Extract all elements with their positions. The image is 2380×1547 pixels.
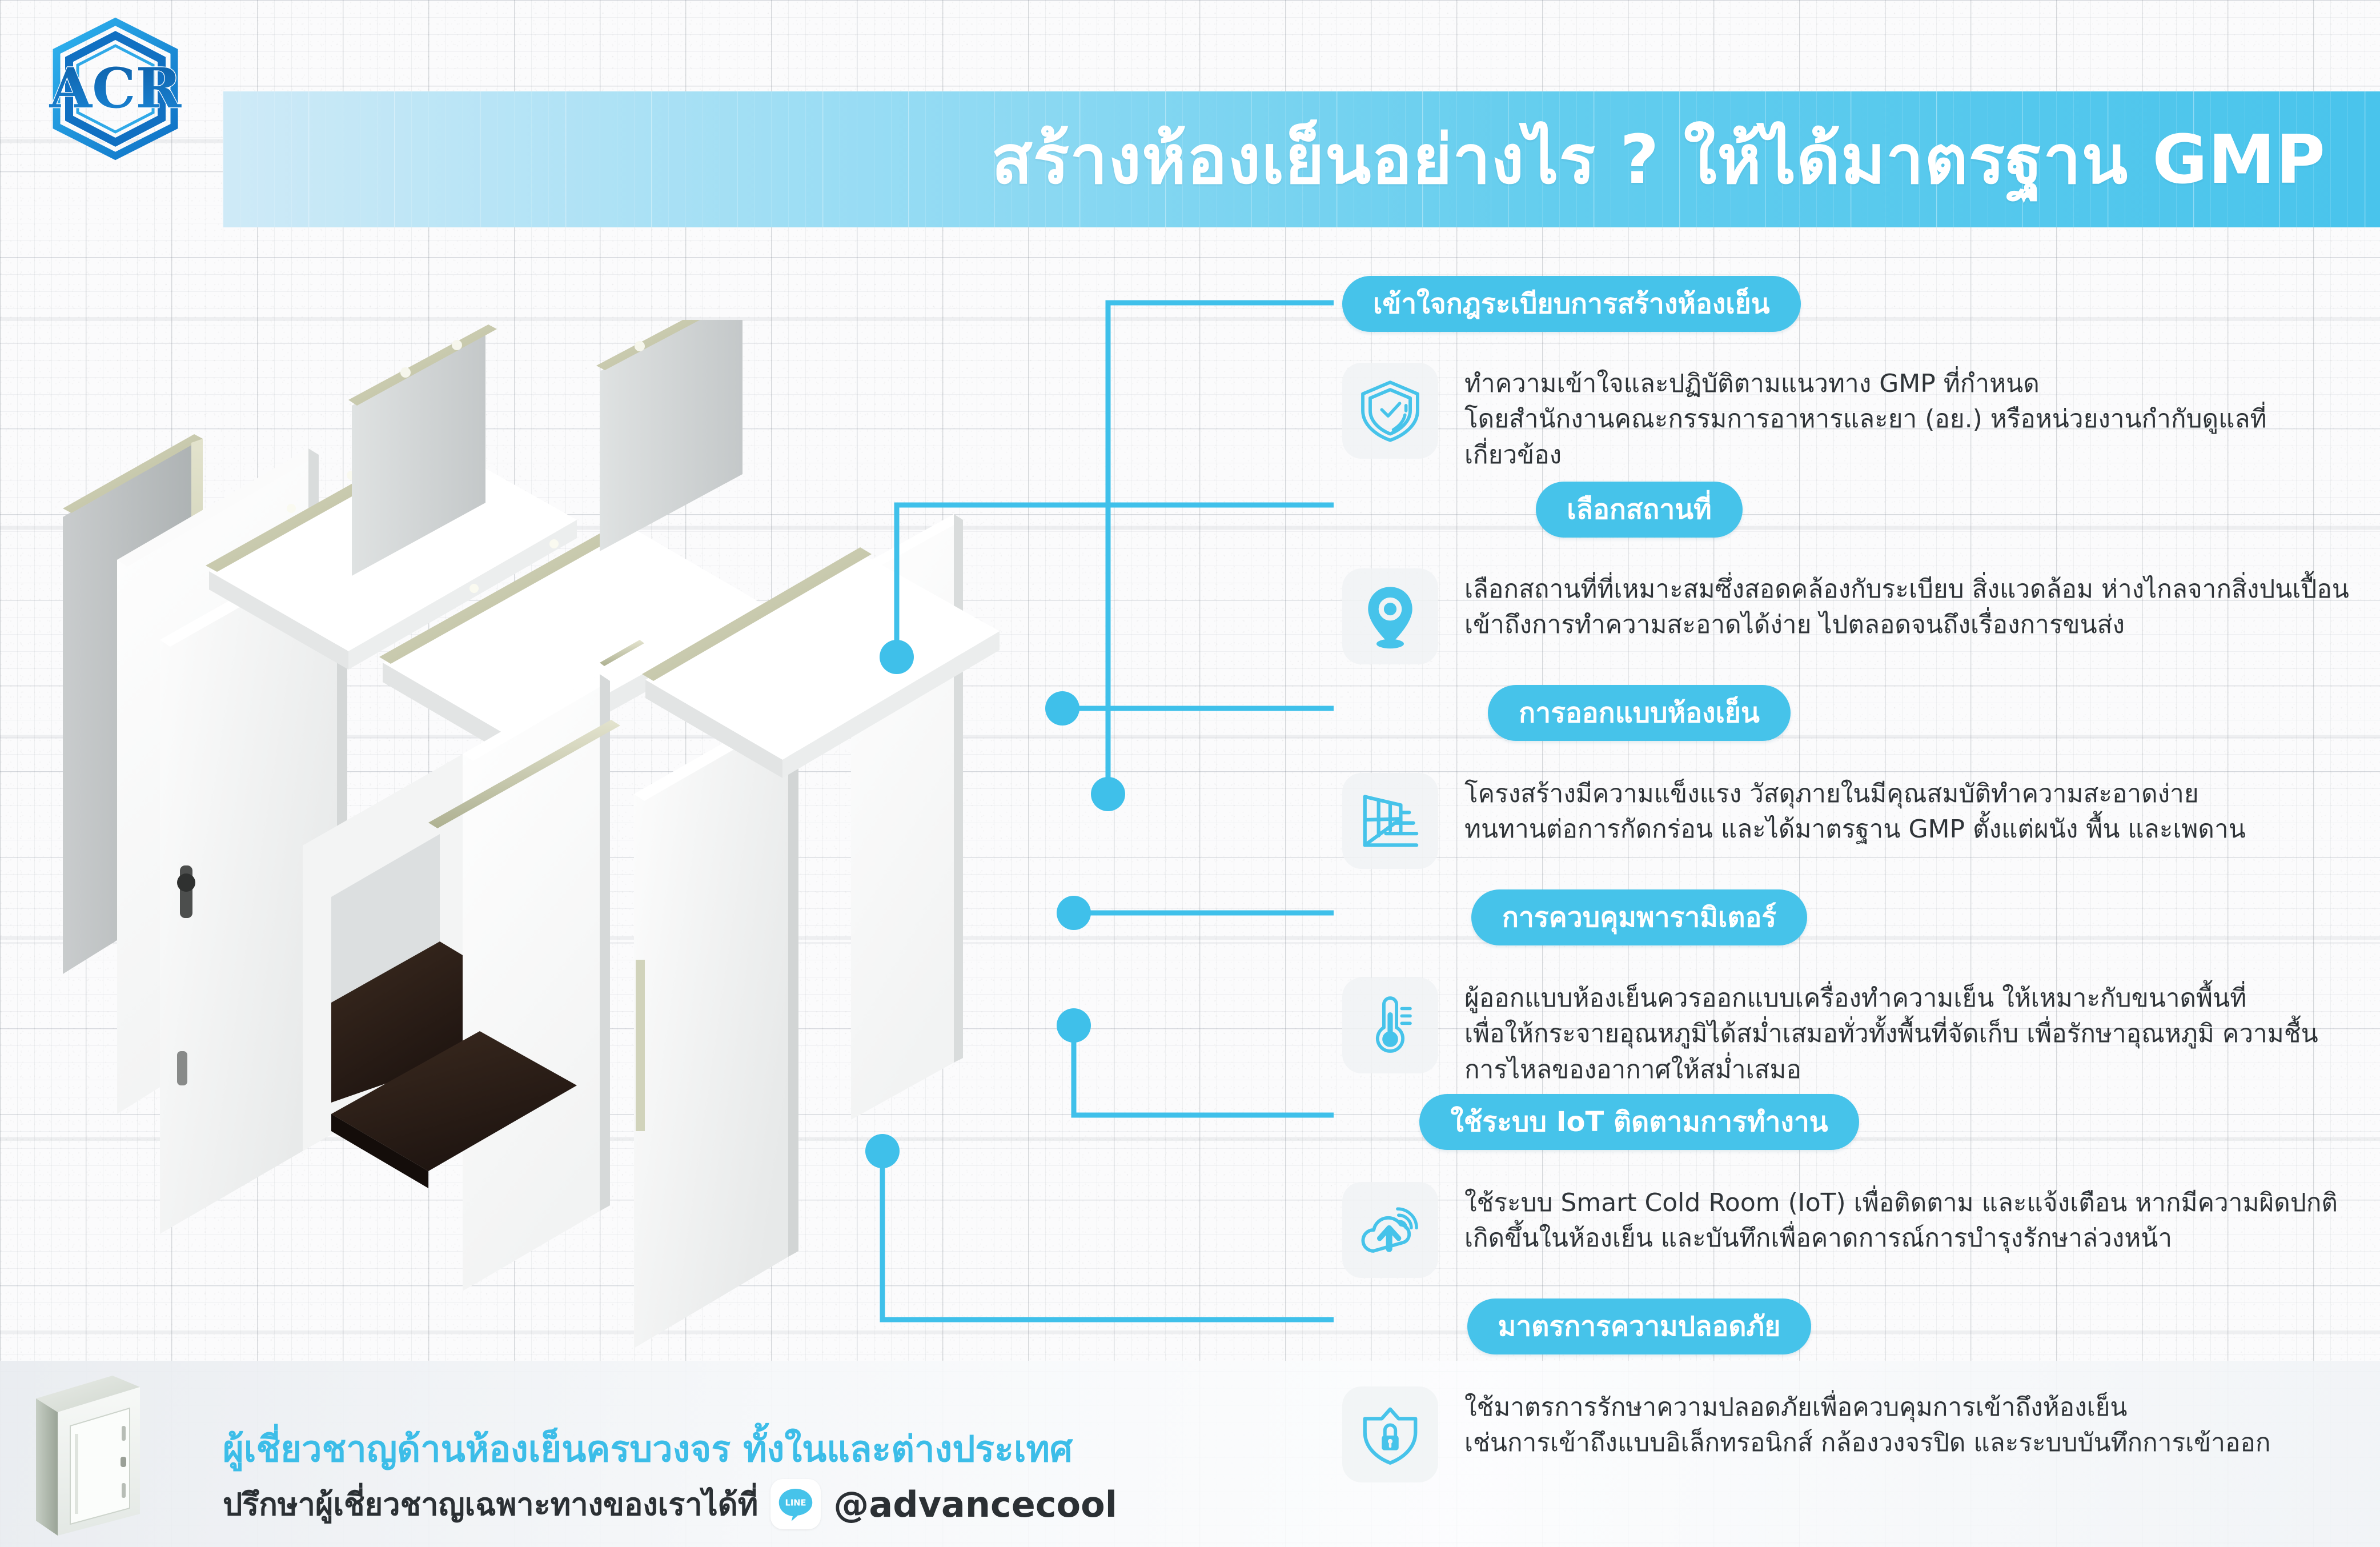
body-text-rules: ทำความเข้าใจและปฏิบัติตามแนวทาง GMP ที่ก… — [1464, 360, 2353, 473]
line-badge-label: LINE — [785, 1498, 806, 1508]
content-block-parameters: การควบคุมพารามิเตอร์ ผู้ออกแบบห้องเย็นคว… — [1331, 875, 2353, 1079]
pill-parameters[interactable]: การควบคุมพารามิเตอร์ — [1471, 889, 1807, 945]
content-block-iot: ใช้ระบบ IoT ติดตามการทำงาน ใช้ระบบ Smart… — [1331, 1079, 2353, 1284]
footer-tagline: ผู้เชี่ยวชาญด้านห้องเย็นครบวงจร ทั้งในแล… — [223, 1428, 1117, 1470]
content-block-rules: เข้าใจกฎระเบียบการสร้างห้องเย็น ทำความเข… — [1331, 260, 2353, 466]
pill-design[interactable]: การออกแบบห้องเย็น — [1488, 685, 1791, 741]
shield-check-icon — [1342, 363, 1438, 459]
footer-text-group: ผู้เชี่ยวชาญด้านห้องเย็นครบวงจร ทั้งในแล… — [223, 1428, 1117, 1529]
cold-room-3d-render — [63, 320, 1091, 1388]
blueprint-icon — [1342, 773, 1438, 869]
pill-location[interactable]: เลือกสถานที่ — [1536, 482, 1742, 538]
infographic-page: สร้างห้องเย็นอย่างไร ? ให้ได้มาตรฐาน GMP… — [0, 0, 2380, 1547]
pill-iot[interactable]: ใช้ระบบ IoT ติดตามการทำงาน — [1419, 1094, 1859, 1150]
content-block-design: การออกแบบห้องเย็น — [1331, 670, 2353, 875]
footer-cta-row: ปรึกษาผู้เชี่ยวชาญเฉพาะทางของเราได้ที่ L… — [223, 1479, 1117, 1529]
body-text-security: ใช้มาตรการรักษาความปลอดภัยเพื่อควบคุมการ… — [1464, 1384, 2270, 1461]
acr-logo-text: ACR — [49, 56, 182, 121]
body-text-iot: ใช้ระบบ Smart Cold Room (IoT) เพื่อติดตา… — [1464, 1180, 2338, 1257]
body-text-location: เลือกสถานที่ที่เหมาะสมซึ่งสอดคล้องกับระเ… — [1464, 566, 2349, 643]
content-block-security: มาตรการความปลอดภัย ใช้มาตรการรักษาความปล… — [1331, 1284, 2353, 1478]
page-title: สร้างห้องเย็นอย่างไร ? ให้ได้มาตรฐาน GMP — [992, 126, 2326, 193]
pill-security[interactable]: มาตรการความปลอดภัย — [1467, 1298, 1812, 1354]
cloud-upload-wifi-icon — [1342, 1182, 1438, 1278]
body-text-design: โครงสร้างมีความแข็งแรง วัสดุภายในมีคุณสม… — [1464, 771, 2246, 848]
thermometer-icon — [1342, 977, 1438, 1073]
panel-upright-back-2 — [596, 320, 754, 551]
map-pin-icon — [1342, 568, 1438, 664]
shield-lock-icon — [1342, 1386, 1438, 1482]
acr-logo[interactable]: ACR — [31, 16, 200, 162]
line-app-icon[interactable]: LINE — [770, 1479, 821, 1529]
body-text-parameters: ผู้ออกแบบห้องเย็นควรออกแบบเครื่องทำความเ… — [1464, 975, 2318, 1088]
pill-rules[interactable]: เข้าใจกฎระเบียบการสร้างห้องเย็น — [1342, 276, 1801, 332]
header-band: สร้างห้องเย็นอย่างไร ? ให้ได้มาตรฐาน GMP — [223, 91, 2380, 227]
panel-right-door — [634, 706, 798, 1348]
line-handle[interactable]: @advancecool — [833, 1484, 1117, 1525]
cold-room-photo-thumb — [26, 1371, 214, 1542]
footer-cta-label: ปรึกษาผู้เชี่ยวชาญเฉพาะทางของเราได้ที่ — [223, 1480, 758, 1529]
content-column: เข้าใจกฎระเบียบการสร้างห้องเย็น ทำความเข… — [1331, 260, 2353, 1478]
content-block-location: เลือกสถานที่ เลือกสถานที่ที่เหมาะสมซึ่งส… — [1331, 466, 2353, 670]
